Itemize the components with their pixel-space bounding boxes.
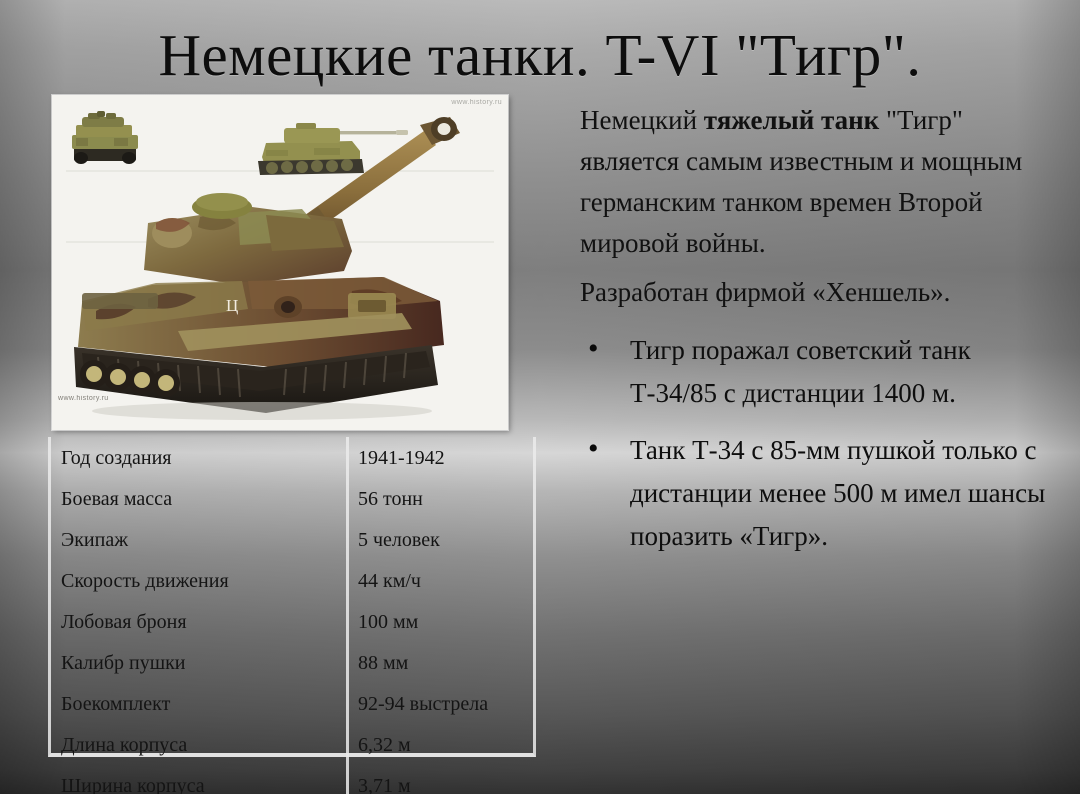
spec-value: 1941-1942 (348, 437, 534, 478)
spec-key: Боевая масса (51, 478, 348, 519)
spec-key: Год создания (51, 437, 348, 478)
slide-title: Немецкие танки. T-VI "Тигр". (0, 22, 1080, 88)
content-column: Немецкий тяжелый танк "Тигр" является са… (580, 100, 1048, 572)
spec-key: Скорость движения (51, 560, 348, 601)
table-row: Длина корпуса6,32 м (51, 724, 533, 765)
spec-value: 6,32 м (348, 724, 534, 765)
picture-watermark-top-right: www.history.ru (451, 99, 502, 106)
intro-lead: Немецкий (580, 105, 704, 135)
list-item: Танк Т-34 с 85-мм пушкой только с дистан… (580, 429, 1048, 558)
spec-key: Калибр пушки (51, 642, 348, 683)
tank-hull-number: Ц (226, 296, 238, 315)
intro-paragraph: Немецкий тяжелый танк "Тигр" является са… (580, 100, 1048, 264)
table-row: Год создания1941-1942 (51, 437, 533, 478)
spec-key: Экипаж (51, 519, 348, 560)
spec-key: Ширина корпуса (51, 765, 348, 794)
table-row: Лобовая броня100 мм (51, 601, 533, 642)
table-row: Боекомплект92-94 выстрела (51, 683, 533, 724)
spec-value: 3,71 м (348, 765, 534, 794)
tank-illustration: Ц (52, 95, 508, 430)
picture-watermark-bottom-left: www.history.ru (58, 395, 109, 402)
table-row: Скорость движения44 км/ч (51, 560, 533, 601)
spec-key: Длина корпуса (51, 724, 348, 765)
presentation-slide: Немецкие танки. T-VI "Тигр". (0, 0, 1080, 794)
table-row: Экипаж5 человек (51, 519, 533, 560)
list-item: Тигр поражал советский танк Т-34/85 с ди… (580, 329, 1048, 415)
specifications-table-body: Год создания1941-1942Боевая масса56 тонн… (51, 437, 533, 794)
intro-bold: тяжелый танк (704, 105, 879, 135)
specifications-table: Год создания1941-1942Боевая масса56 тонн… (48, 437, 536, 757)
spec-key: Боекомплект (51, 683, 348, 724)
fact-bullet-list: Тигр поражал советский танк Т-34/85 с ди… (580, 329, 1048, 558)
table-row: Ширина корпуса3,71 м (51, 765, 533, 794)
tank-illustration-svg: Ц (52, 95, 508, 430)
spec-value: 88 мм (348, 642, 534, 683)
spec-value: 92-94 выстрела (348, 683, 534, 724)
spec-value: 5 человек (348, 519, 534, 560)
spec-value: 56 тонн (348, 478, 534, 519)
spec-key: Лобовая броня (51, 601, 348, 642)
table-row: Калибр пушки88 мм (51, 642, 533, 683)
developer-paragraph: Разработан фирмой «Хеншель». (580, 272, 1048, 313)
table-row: Боевая масса56 тонн (51, 478, 533, 519)
spec-value: 44 км/ч (348, 560, 534, 601)
spec-value: 100 мм (348, 601, 534, 642)
